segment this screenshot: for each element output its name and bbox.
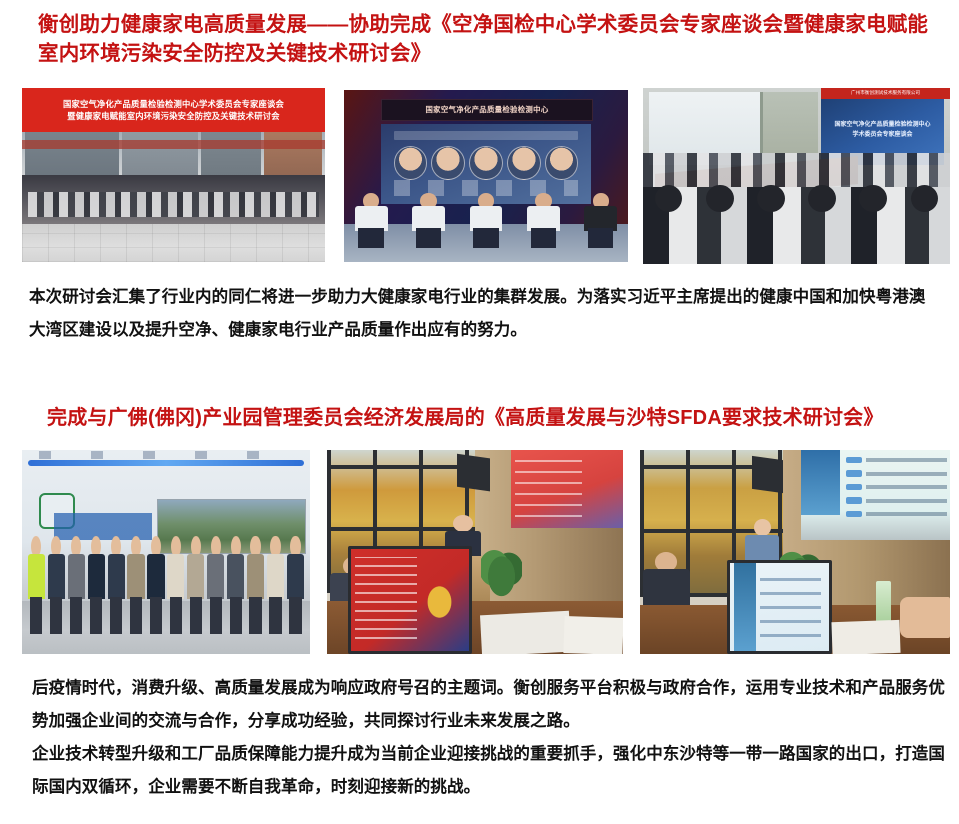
photo6-toc-badge [846, 470, 862, 477]
photo6-documents [832, 620, 901, 654]
photo3-attendees-back [643, 153, 950, 188]
photo6-seated-attendee [643, 552, 690, 613]
section-1-heading: 衡创助力健康家电高质量发展——协助完成《空净国检中心学术委员会专家座谈会暨健康家… [38, 10, 938, 68]
photo1-plaza-ground [22, 224, 325, 262]
photo6-hand [900, 597, 950, 638]
section-2-heading: 完成与广佛(佛冈)产业园管理委员会经济发展局的《高质量发展与沙特SFDA要求技术… [47, 404, 952, 432]
photo6-laptop [727, 560, 832, 654]
photo6-toc-row [846, 482, 947, 491]
photo1-red-facade-strip [22, 140, 325, 149]
photo6-toc-badge [846, 484, 862, 491]
photo6-slide-title-panel [801, 450, 840, 515]
photo6-projection-screen [801, 450, 950, 540]
photo5-ceiling-speaker [457, 454, 490, 491]
photo4-person [187, 536, 204, 634]
photo6-toc-row [846, 496, 947, 505]
photo6-toc-row [846, 509, 947, 518]
photo4-person [68, 536, 85, 634]
photo2-avatar [394, 146, 427, 179]
photo5-potted-plant [481, 546, 522, 601]
photo4-person [48, 536, 65, 634]
photo3-screen-line-1: 国家空气净化产品质量检验检测中心 [834, 120, 930, 130]
photo4-person [247, 536, 264, 634]
photo2-panelist [410, 193, 447, 248]
photo2-avatar [431, 146, 464, 179]
stage-panel-discussion: 国家空气净化产品质量检验检测中心 [344, 90, 628, 262]
male-speaker-podium [327, 450, 623, 654]
photo4-person [88, 536, 105, 634]
photo5-documents [480, 611, 571, 654]
photo1-crowd-front-rows [28, 192, 319, 216]
photo2-panelists [353, 193, 620, 248]
photo4-person [167, 536, 184, 634]
female-speaker-podium [640, 450, 950, 654]
photo5-documents [563, 616, 623, 654]
section-1-paragraph: 本次研讨会汇集了行业内的同仁将进一步助力大健康家电行业的集群发展。为落实习近平主… [29, 281, 941, 347]
conference-room-meeting: 国家空气净化产品质量检验检测中心 学术委员会专家座谈会 广州市衡创测试技术服务有… [643, 88, 950, 264]
photo3-head [808, 185, 836, 213]
photo6-toc-badge [846, 511, 862, 518]
photo6-laptop-screen [730, 563, 829, 651]
photo2-screen-title-bar [394, 131, 579, 140]
photo6-toc-line [866, 458, 947, 462]
photo5-slide-text-lines [515, 456, 582, 516]
photo6-slide-toc [846, 455, 947, 514]
photo3-red-wall-banner: 广州市衡创测试技术服务有限公司 [821, 88, 950, 99]
photo2-avatar [469, 146, 502, 179]
photo4-group-people [28, 536, 304, 634]
photo5-projection-screen [511, 450, 623, 528]
photo2-panelist [467, 193, 504, 248]
group-photo-outdoor: 国家空气净化产品质量检验检测中心学术委员会专家座谈会 暨健康家电赋能室内环境污染… [22, 88, 325, 262]
photo4-person [147, 536, 164, 634]
photo3-head [706, 185, 734, 213]
photo3-screen-line-2: 学术委员会专家座谈会 [852, 130, 912, 140]
photo3-head [859, 185, 887, 213]
photo5-laptop [348, 546, 472, 654]
photo2-panelist [353, 193, 390, 248]
photo6-toc-line [866, 472, 947, 476]
photo4-ceiling-labels [39, 451, 292, 459]
photo2-avatar [545, 146, 578, 179]
photo4-person [207, 536, 224, 634]
exhibition-hall-group-photo [22, 450, 310, 654]
photo4-person [127, 536, 144, 634]
photo6-ceiling-speaker [752, 456, 783, 493]
photo4-person [287, 536, 304, 634]
photo6-toc-line [866, 512, 947, 516]
photo6-water-bottle [876, 581, 892, 626]
photo2-screen-avatars [394, 150, 579, 177]
section-2-paragraph: 后疫情时代，消费升级、高质量发展成为响应政府号召的主题词。衡创服务平台积极与政府… [32, 672, 947, 804]
photo3-head [655, 185, 683, 213]
photo6-toc-row [846, 469, 947, 478]
photo2-avatar [507, 146, 540, 179]
photo5-laptop-screen [351, 549, 469, 651]
photo3-head [757, 185, 785, 213]
photo3-attendee-heads [643, 185, 950, 217]
photo4-person [267, 536, 284, 634]
photo4-led-light-strip [28, 460, 304, 466]
photo6-toc-badge [846, 497, 862, 504]
photo2-led-screen [381, 124, 591, 203]
photo6-toc-line [866, 485, 947, 489]
photo4-person [28, 536, 45, 634]
photo4-person [108, 536, 125, 634]
photo3-head [911, 185, 939, 213]
photo2-stage-header-sign: 国家空气净化产品质量检验检测中心 [381, 99, 593, 122]
photo6-toc-row [846, 455, 947, 464]
photo2-panelist [525, 193, 562, 248]
photo-row-2 [0, 450, 959, 656]
photo1-red-event-banner: 国家空气净化产品质量检验检测中心学术委员会专家座谈会 暨健康家电赋能室内环境污染… [22, 88, 325, 132]
photo2-panelist [582, 193, 619, 248]
photo6-toc-line [866, 499, 947, 503]
photo1-banner-line-2: 暨健康家电赋能室内环境污染安全防控及关键技术研讨会 [67, 110, 279, 122]
photo1-banner-line-1: 国家空气净化产品质量检验检测中心学术委员会专家座谈会 [63, 98, 284, 110]
photo4-person [227, 536, 244, 634]
photo6-toc-badge [846, 457, 862, 464]
document-page: 衡创助力健康家电高质量发展——协助完成《空净国检中心学术委员会专家座谈会暨健康家… [0, 0, 959, 824]
photo-row-1: 国家空气净化产品质量检验检测中心学术委员会专家座谈会 暨健康家电赋能室内环境污染… [0, 88, 959, 264]
